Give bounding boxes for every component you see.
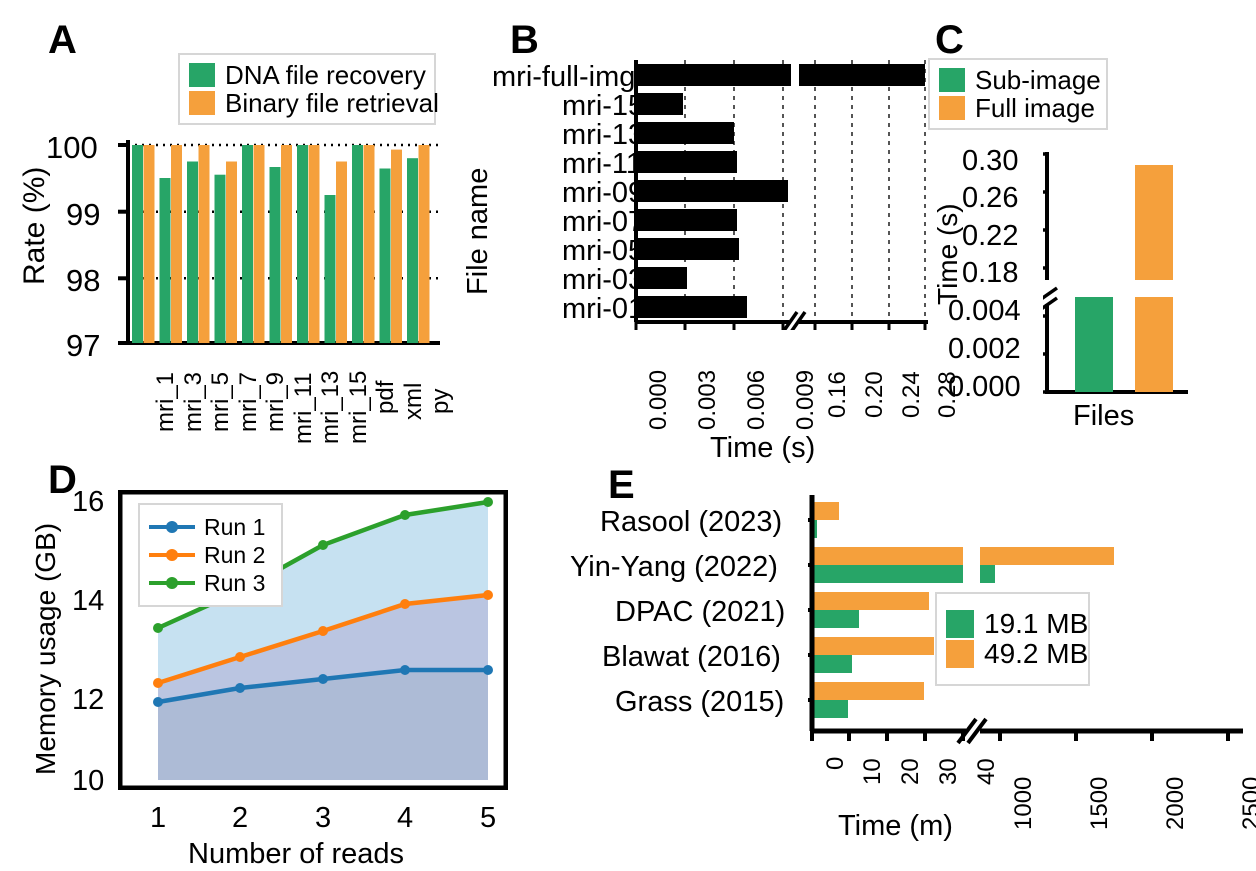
panel-e-ytick: Blawat (2016) <box>602 641 781 674</box>
panel-a-xtick: mri_1 <box>152 372 180 432</box>
panel-e-ytick: Yin-Yang (2022) <box>570 551 778 584</box>
legend-swatch-binary <box>189 91 215 115</box>
panel-a-label: A <box>48 20 76 60</box>
panel-a-legend: DNA file recovery Binary file retrieval <box>178 53 436 125</box>
panel-a-xtick: pdf <box>372 381 400 414</box>
legend-line-run2 <box>149 553 195 557</box>
legend-label: Full image <box>975 95 1095 121</box>
panel-e-xtick: 20 <box>897 758 925 785</box>
panel-b-xtick: 0.009 <box>792 370 820 430</box>
legend-line-run3 <box>149 581 195 585</box>
panel-c-ylabel: Time (s) <box>932 203 964 305</box>
legend-item: 49.2 MB <box>946 640 1079 668</box>
panel-d-xtick: 3 <box>315 802 331 835</box>
panel-a-xtick: mri_13 <box>317 371 345 444</box>
legend-swatch-19mb <box>946 610 974 638</box>
panel-a-plot <box>110 140 440 345</box>
panel-e-label: E <box>608 465 634 505</box>
panel-a-ylabel: Rate (%) <box>18 167 52 285</box>
legend-item: Full image <box>939 95 1097 121</box>
legend-swatch-full-image <box>939 96 965 120</box>
legend-item: Run 3 <box>149 570 272 596</box>
panel-e-xtick: 10 <box>859 758 887 785</box>
legend-item: Run 2 <box>149 542 272 568</box>
panel-a-xtick: xml <box>400 383 428 420</box>
panel-d-xtick: 4 <box>397 802 413 835</box>
panel-d-legend: Run 1 Run 2 Run 3 <box>138 503 283 607</box>
panel-e: E Rasool (2023) Yin-Yang (2022) DPAC (20… <box>560 440 1256 867</box>
panel-b: B File name mri-full-img mri-15 mri-13 m… <box>440 0 860 440</box>
panel-e-xtick: 1500 <box>1086 777 1114 830</box>
legend-label: 49.2 MB <box>984 641 1088 667</box>
panel-e-ytick: Rasool (2023) <box>600 506 782 539</box>
panel-a-xtick: mri_5 <box>207 372 235 432</box>
panel-d-ylabel: Memory usage (GB) <box>30 523 62 775</box>
panel-d-xlabel: Number of reads <box>188 838 404 871</box>
panel-c-plot <box>1043 152 1188 402</box>
legend-label: Binary file retrieval <box>225 90 439 116</box>
panel-e-xtick: 0 <box>822 757 850 770</box>
panel-a-xtick: mri_9 <box>262 372 290 432</box>
panel-a-xtick: mri_11 <box>290 372 318 444</box>
panel-d-xtick: 5 <box>480 802 496 835</box>
panel-b-ytick: mri-01 <box>562 293 644 326</box>
panel-c-label: C <box>935 20 963 60</box>
panel-a-ytick: 99 <box>66 197 100 233</box>
panel-d-ytick: 16 <box>72 486 104 519</box>
panel-c-bars <box>1075 165 1173 392</box>
legend-swatch-dna <box>189 63 215 87</box>
legend-swatch-49mb <box>946 640 974 668</box>
panel-c-ytick: 0.22 <box>962 220 1018 253</box>
legend-item: DNA file recovery <box>189 62 425 88</box>
panel-d-ytick: 12 <box>72 684 104 717</box>
panel-b-label: B <box>510 20 538 60</box>
legend-label: Run 3 <box>204 570 265 596</box>
panel-a-bars <box>132 145 430 343</box>
legend-label: 19.1 MB <box>984 611 1088 637</box>
legend-label: DNA file recovery <box>225 62 426 88</box>
panel-c-xlabel: Files <box>1073 400 1134 433</box>
panel-e-ytick: Grass (2015) <box>615 686 784 719</box>
panel-c-ytick: 0.000 <box>948 371 1021 404</box>
panel-e-xtick: 40 <box>973 758 1001 785</box>
legend-line-run1 <box>149 525 195 529</box>
panel-e-xtick: 2500 <box>1238 777 1256 830</box>
panel-d-xtick: 1 <box>150 802 166 835</box>
panel-b-xtick: 0.000 <box>645 370 673 430</box>
panel-c-legend: Sub-image Full image <box>928 58 1108 130</box>
panel-e-xtick: 30 <box>935 758 963 785</box>
panel-a-ytick: 98 <box>66 263 100 299</box>
panel-b-xtick: 0.003 <box>694 370 722 430</box>
panel-d-ytick: 10 <box>72 765 104 798</box>
legend-swatch-sub-image <box>939 68 965 92</box>
panel-d-xtick: 2 <box>232 802 248 835</box>
panel-a-xtick: mri_3 <box>180 372 208 432</box>
panel-d-ytick: 14 <box>72 585 104 618</box>
panel-e-ytick: DPAC (2021) <box>615 596 785 629</box>
legend-item: Binary file retrieval <box>189 90 425 116</box>
panel-a-xtick: mri_15 <box>345 371 373 444</box>
legend-item: Run 1 <box>149 514 272 540</box>
panel-e-xlabel: Time (m) <box>838 810 953 843</box>
panel-e-legend: 19.1 MB 49.2 MB <box>935 592 1090 686</box>
legend-label: Sub-image <box>975 67 1101 93</box>
legend-label: Run 2 <box>204 542 265 568</box>
panel-c-ytick: 0.18 <box>962 257 1018 290</box>
figure-canvas: A DNA file recovery Binary file retrieva… <box>0 0 1256 867</box>
panel-a: A DNA file recovery Binary file retrieva… <box>0 0 446 440</box>
legend-item: Sub-image <box>939 67 1097 93</box>
panel-a-ytick: 97 <box>66 328 100 364</box>
panel-c-ytick: 0.004 <box>948 295 1021 328</box>
panel-a-ytick: 100 <box>46 130 98 166</box>
panel-a-xtick: mri_7 <box>235 372 263 432</box>
legend-label: Run 1 <box>204 514 265 540</box>
panel-e-xtick: 1000 <box>1010 777 1038 830</box>
panel-b-xtick: 0.16 <box>824 371 852 418</box>
panel-c-ytick: 0.002 <box>948 333 1021 366</box>
panel-c-ytick: 0.26 <box>962 182 1018 215</box>
panel-c: C Sub-image Full image Time (s) 0.30 0.2… <box>855 0 1256 440</box>
panel-c-ytick: 0.30 <box>962 145 1018 178</box>
panel-b-ylabel: File name <box>462 168 495 295</box>
panel-e-xtick: 2000 <box>1162 777 1190 830</box>
legend-item: 19.1 MB <box>946 610 1079 638</box>
panel-b-xtick: 0.006 <box>743 370 771 430</box>
panel-d: D Memory usage (GB) 16 14 12 10 <box>0 440 560 867</box>
